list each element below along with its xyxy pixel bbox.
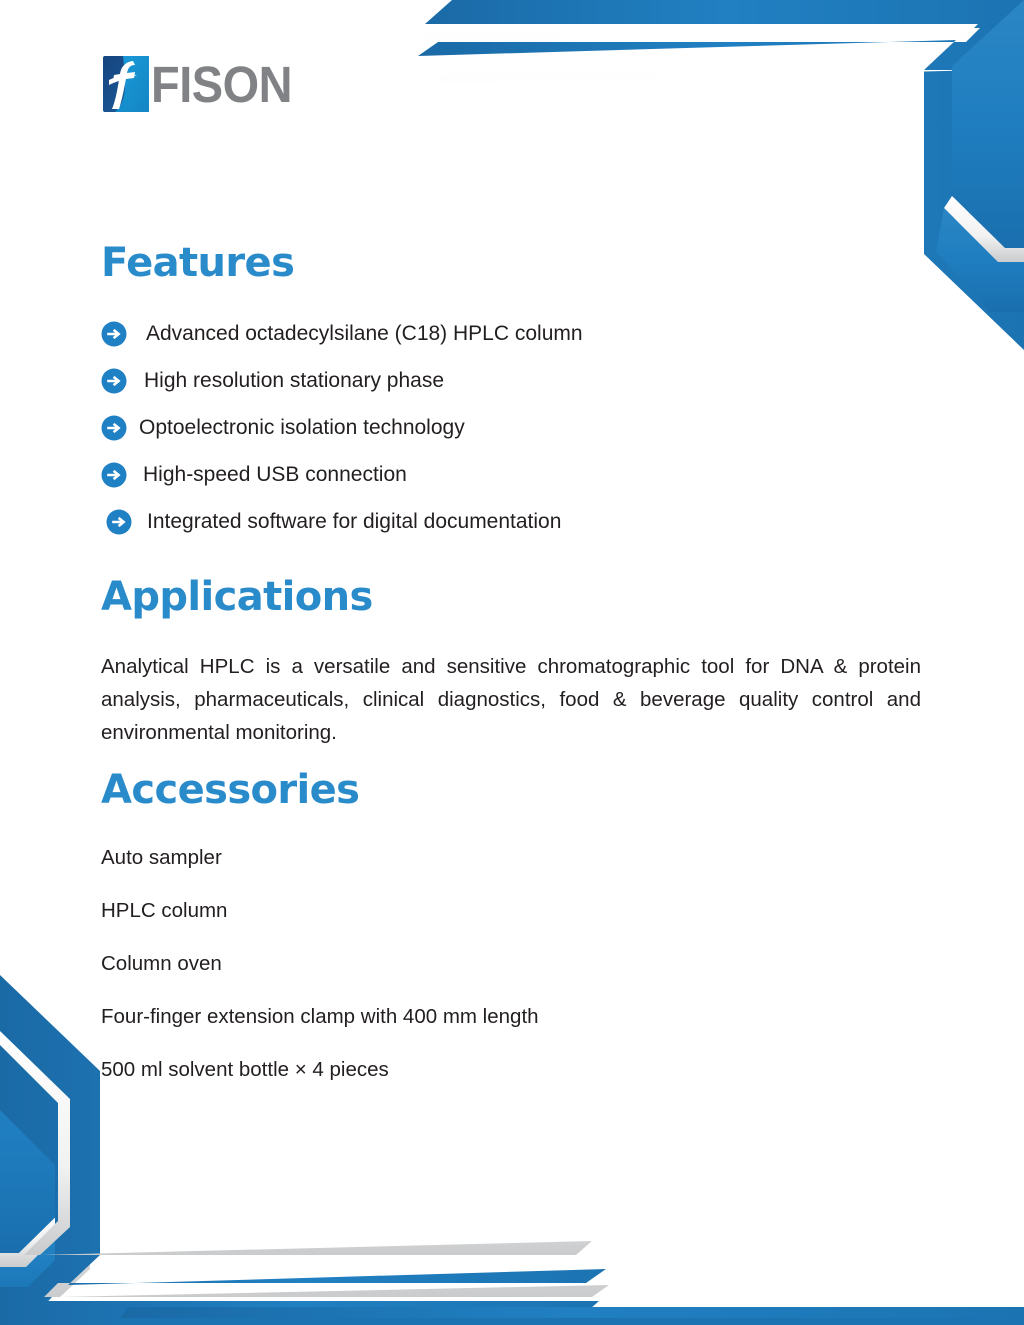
- list-item: Advanced octadecylsilane (C18) HPLC colu…: [101, 310, 921, 357]
- circle-arrow-right-icon: [106, 509, 132, 535]
- features-list: Advanced octadecylsilane (C18) HPLC colu…: [101, 310, 921, 545]
- list-item: High-speed USB connection: [101, 451, 921, 498]
- ribbon-right-edge: [936, 0, 1024, 312]
- circle-arrow-right-icon: [101, 368, 127, 394]
- features-heading: Features: [101, 243, 294, 283]
- list-item: Integrated software for digital document…: [101, 498, 921, 545]
- circle-arrow-right-icon: [101, 462, 127, 488]
- feature-text: Advanced octadecylsilane (C18) HPLC colu…: [146, 321, 583, 347]
- feature-text: Integrated software for digital document…: [147, 509, 561, 535]
- fison-f-logo-icon: [103, 56, 149, 112]
- applications-paragraph: Analytical HPLC is a versatile and sensi…: [101, 650, 921, 749]
- feature-text: High-speed USB connection: [143, 462, 407, 488]
- accessories-heading: Accessories: [101, 770, 359, 810]
- list-item: HPLC column: [101, 898, 921, 951]
- circle-arrow-right-icon: [101, 321, 127, 347]
- list-item: Auto sampler: [101, 845, 921, 898]
- accessories-list: Auto sampler HPLC column Column oven Fou…: [101, 845, 921, 1110]
- list-item: Column oven: [101, 951, 921, 1004]
- circle-arrow-right-icon: [101, 415, 127, 441]
- brand-header: FISON: [103, 56, 304, 112]
- list-item: 500 ml solvent bottle × 4 pieces: [101, 1057, 921, 1110]
- applications-heading: Applications: [101, 577, 373, 617]
- brand-wordmark: FISON: [151, 59, 292, 110]
- list-item: Four-finger extension clamp with 400 mm …: [101, 1004, 921, 1057]
- list-item: High resolution stationary phase: [101, 357, 921, 404]
- feature-text: Optoelectronic isolation technology: [139, 415, 465, 441]
- feature-text: High resolution stationary phase: [144, 368, 444, 394]
- list-item: Optoelectronic isolation technology: [101, 404, 921, 451]
